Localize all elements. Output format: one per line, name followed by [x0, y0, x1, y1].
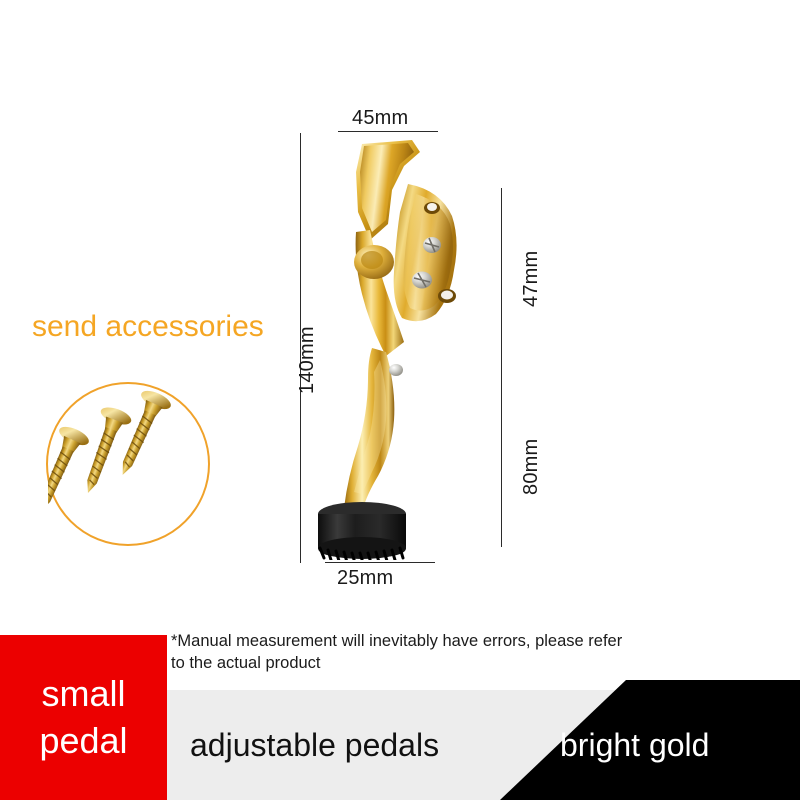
- gold-screw-2: [73, 404, 134, 499]
- banner-red-label-line-1: small: [41, 671, 125, 717]
- kickstand-illustration: [300, 120, 520, 560]
- disclaimer-text: *Manual measurement will inevitably have…: [171, 630, 691, 675]
- dimension-label-height-lower: 80mm: [520, 439, 543, 495]
- dimension-label-height-upper: 47mm: [520, 251, 543, 307]
- dimension-line-height-lower: [501, 332, 502, 547]
- product-image-canvas: 45mm 140mm 47mm 80mm 25mm send accessori…: [0, 0, 800, 800]
- dimension-line-width-top: [338, 131, 438, 132]
- dimension-label-width-foot: 25mm: [337, 567, 393, 590]
- screws-illustration: [48, 384, 204, 540]
- gold-screw-3: [108, 387, 173, 481]
- banner-gray-label: adjustable pedals: [190, 690, 550, 800]
- banner-red-label-line-2: pedal: [39, 718, 127, 764]
- banner-red-badge: small pedal: [0, 635, 167, 800]
- banner-black-label: bright gold: [560, 690, 800, 800]
- leg-screw: [389, 364, 403, 376]
- disclaimer-line-1: *Manual measurement will inevitably have…: [171, 630, 691, 652]
- disclaimer-line-2: to the actual product: [171, 652, 691, 674]
- product-photo-kickstand: [300, 120, 520, 560]
- lower-leg: [344, 348, 394, 512]
- dimension-line-width-foot: [325, 562, 435, 563]
- accessories-circle: [46, 382, 210, 546]
- dimension-label-height-total: 140mm: [296, 326, 319, 394]
- dimension-label-width-top: 45mm: [352, 107, 408, 130]
- gold-screw-1: [48, 423, 91, 517]
- accessories-headline: send accessories: [32, 310, 264, 344]
